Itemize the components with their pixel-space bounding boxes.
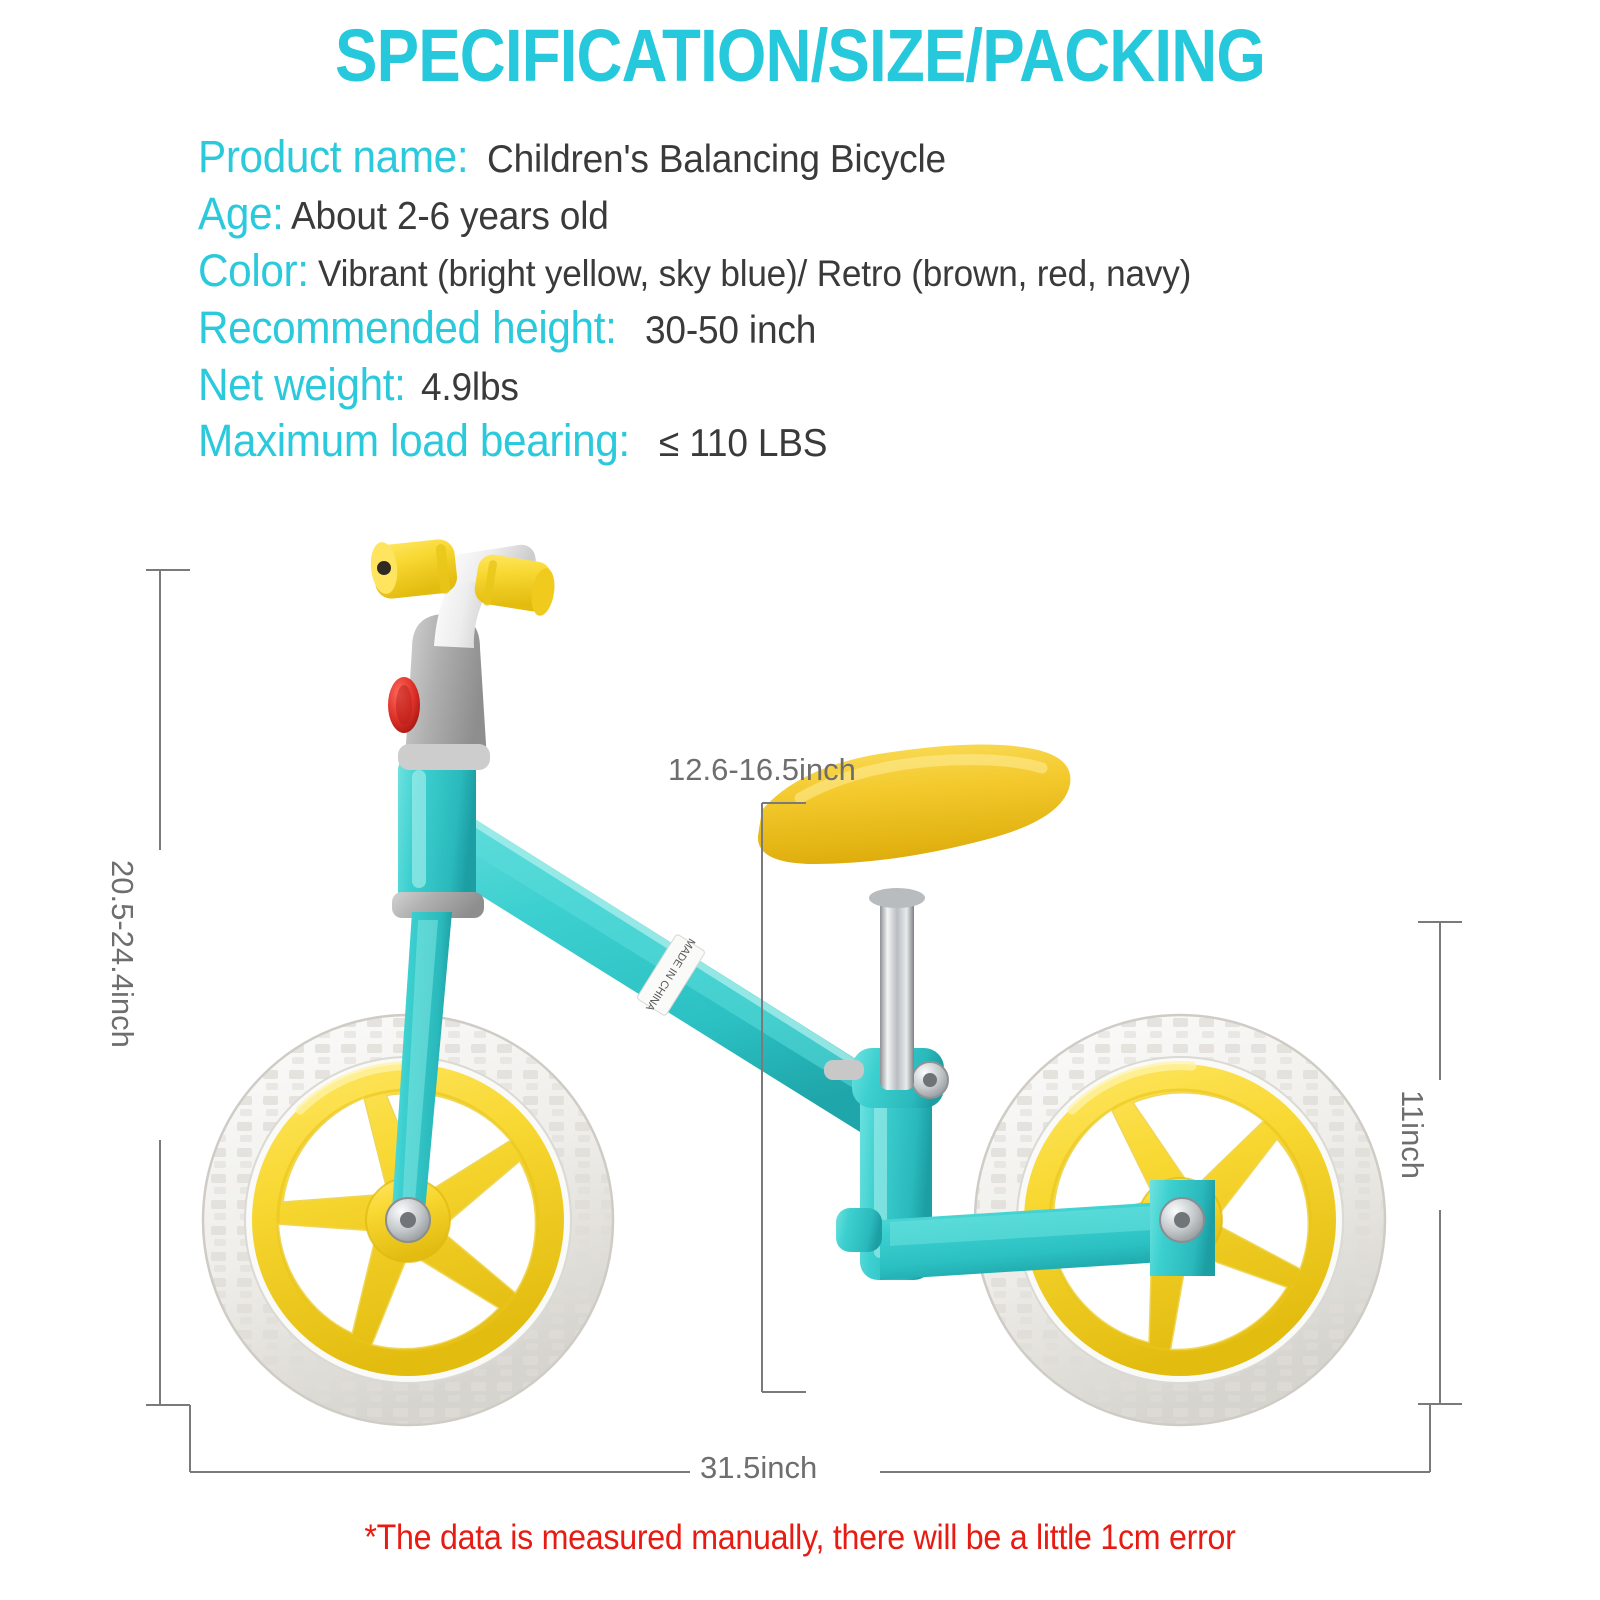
page-title: SPECIFICATION/SIZE/PACKING	[112, 16, 1488, 96]
spec-row-color: Color:Vibrant (bright yellow, sky blue)/…	[198, 244, 1528, 299]
spec-label-net-weight: Net weight:	[198, 358, 405, 413]
spec-row-product-name: Product name:Children's Balancing Bicycl…	[198, 130, 1528, 185]
spec-value-net-weight: 4.9lbs	[421, 364, 519, 412]
spec-value-product-name: Children's Balancing Bicycle	[487, 136, 946, 184]
dimension-lines	[0, 520, 1600, 1530]
product-spec-page: { "title": "SPECIFICATION/SIZE/PACKING",…	[0, 0, 1600, 1600]
dimension-label-wheel-height: 11inch	[1394, 1090, 1430, 1179]
dimension-label-seat-height: 12.6-16.5inch	[668, 752, 856, 788]
spec-row-age: Age:About 2-6 years old	[198, 187, 1528, 242]
spec-label-age: Age:	[198, 187, 284, 242]
product-dimension-diagram: MADE IN CHINA	[0, 520, 1600, 1530]
specification-list: Product name:Children's Balancing Bicycl…	[198, 130, 1528, 471]
spec-value-recommended-height: 30-50 inch	[645, 307, 816, 355]
dimension-label-overall-length: 31.5inch	[700, 1450, 817, 1486]
spec-label-max-load: Maximum load bearing:	[198, 414, 630, 469]
spec-value-max-load: ≤ 110 LBS	[659, 420, 827, 468]
measurement-disclaimer: *The data is measured manually, there wi…	[64, 1518, 1536, 1558]
spec-row-recommended-height: Recommended height:30-50 inch	[198, 301, 1528, 356]
spec-value-age: About 2-6 years old	[291, 193, 609, 241]
spec-label-recommended-height: Recommended height:	[198, 301, 616, 356]
spec-row-net-weight: Net weight:4.9lbs	[198, 358, 1528, 413]
spec-value-color: Vibrant (bright yellow, sky blue)/ Retro…	[318, 251, 1191, 296]
spec-label-product-name: Product name:	[198, 130, 468, 185]
dimension-label-overall-height: 20.5-24.4inch	[104, 860, 140, 1048]
spec-row-max-load: Maximum load bearing:≤ 110 LBS	[198, 414, 1528, 469]
spec-label-color: Color:	[198, 244, 309, 299]
